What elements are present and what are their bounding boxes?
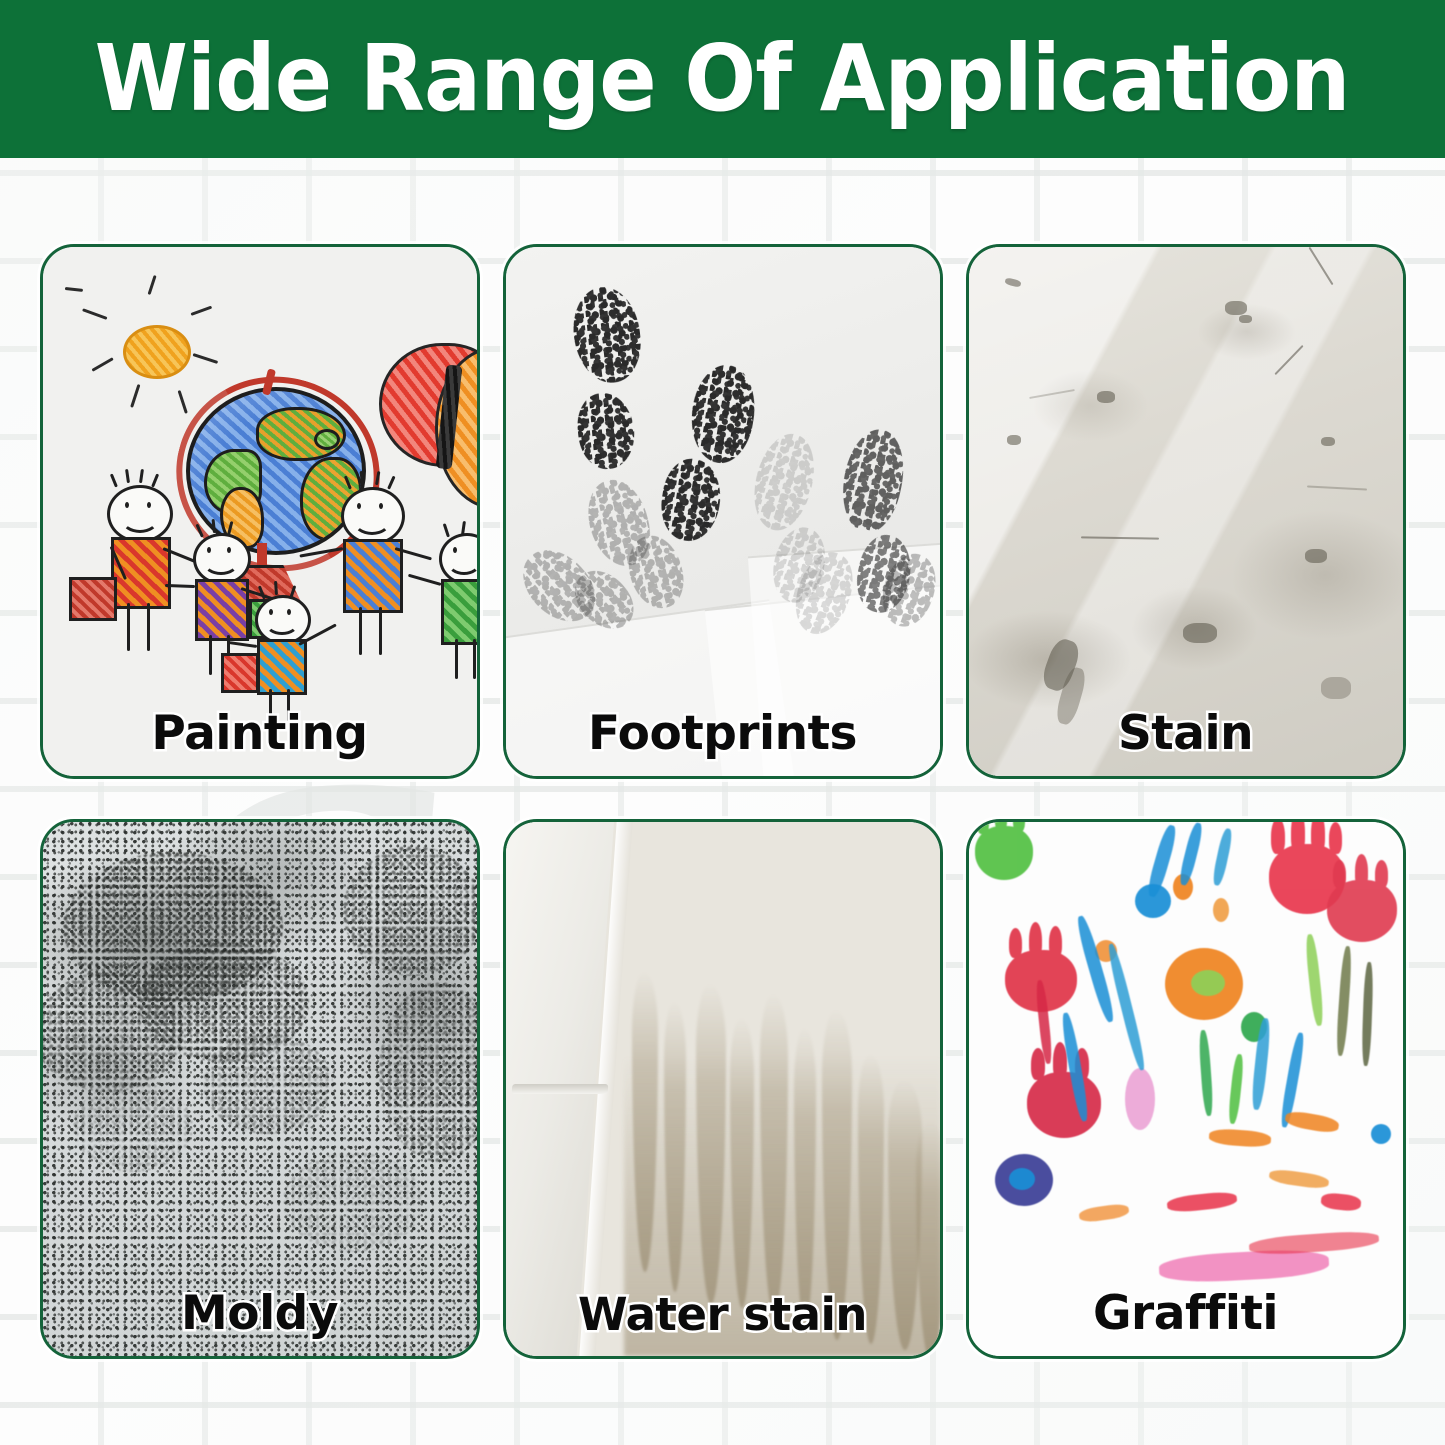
footprint-sole bbox=[569, 284, 645, 386]
stain-photo bbox=[969, 247, 1403, 776]
paint-streak-blue bbox=[1211, 827, 1234, 886]
scuff-scratch bbox=[1306, 485, 1366, 490]
handprint-crimson bbox=[1027, 1072, 1101, 1138]
figure-smile bbox=[353, 507, 391, 535]
card-stain[interactable]: Stain bbox=[966, 244, 1406, 779]
sun-ray bbox=[192, 353, 218, 364]
card-label-painting: Painting bbox=[43, 709, 477, 758]
handprint-green bbox=[975, 826, 1033, 880]
mold-patch bbox=[73, 1082, 193, 1172]
card-label-graffiti: Graffiti bbox=[969, 1289, 1403, 1338]
header-banner: Wide Range Of Application bbox=[0, 0, 1445, 158]
figure-hair bbox=[109, 473, 117, 487]
paint-blot-orange bbox=[1213, 898, 1229, 922]
paint-streak-orange bbox=[1208, 1128, 1271, 1148]
figure-smile bbox=[121, 505, 159, 533]
figure-hair bbox=[274, 581, 278, 595]
paint-blot-blue bbox=[1371, 1124, 1391, 1144]
figure-shirt bbox=[343, 539, 403, 613]
handprint-red bbox=[1327, 880, 1397, 942]
paint-streak-blue bbox=[1074, 914, 1117, 1023]
paint-streak-orange bbox=[1078, 1203, 1129, 1224]
figure-leg bbox=[209, 635, 212, 675]
mold-patch bbox=[343, 846, 480, 976]
figure-leg bbox=[127, 603, 130, 651]
mold-patch bbox=[379, 982, 480, 1162]
scuff-scratch bbox=[1308, 247, 1333, 285]
card-label-stain: Stain bbox=[969, 709, 1403, 758]
footprint-sole bbox=[684, 361, 761, 467]
paint-streak-green bbox=[1198, 1030, 1214, 1116]
paint-streak-red bbox=[1320, 1192, 1361, 1212]
figure-smile bbox=[265, 611, 299, 635]
figure-hair bbox=[125, 469, 130, 483]
scuff-scratch bbox=[1080, 536, 1158, 539]
card-footprints[interactable]: Footprints bbox=[503, 244, 943, 779]
figure-leg bbox=[455, 639, 458, 679]
sun-ray bbox=[82, 308, 107, 320]
figure-smile bbox=[203, 549, 239, 575]
scuff-scratch bbox=[1274, 345, 1303, 375]
sun-ray bbox=[91, 357, 113, 372]
footprint-heel bbox=[655, 455, 725, 545]
moldy-photo bbox=[43, 822, 477, 1356]
paint-streak-blue bbox=[1177, 821, 1204, 886]
footprints-photo bbox=[506, 247, 940, 776]
infographic-page: S Wide Range Of Application bbox=[0, 0, 1445, 1445]
figure-arm bbox=[407, 574, 441, 586]
footprint-sole-faint bbox=[743, 427, 824, 537]
figure-hair bbox=[442, 523, 449, 537]
shopping-bag-red bbox=[69, 577, 117, 621]
card-painting[interactable]: Painting bbox=[40, 244, 480, 779]
mold-patch bbox=[283, 1152, 423, 1252]
dirt-smudge bbox=[1183, 623, 1217, 643]
card-graffiti[interactable]: Graffiti bbox=[966, 819, 1406, 1359]
dirt-smudge bbox=[1321, 677, 1351, 699]
paint-streak-orange bbox=[1284, 1109, 1340, 1134]
mold-patch bbox=[40, 972, 183, 1092]
paint-streak-pink bbox=[1158, 1248, 1329, 1285]
figure-leg bbox=[359, 607, 362, 655]
scuff-scratch bbox=[1029, 389, 1075, 399]
dirt-speck bbox=[1007, 435, 1021, 445]
figure-arm bbox=[229, 641, 257, 648]
appliance-handle-line bbox=[511, 1084, 608, 1094]
paint-streak-olive bbox=[1335, 946, 1353, 1056]
dirt-speck bbox=[1305, 549, 1327, 563]
figure-hair bbox=[387, 476, 395, 490]
figure-smile bbox=[447, 549, 480, 575]
application-card-grid: Painting bbox=[0, 158, 1445, 1445]
figure-hair bbox=[151, 473, 159, 487]
figure-shirt bbox=[257, 639, 307, 695]
water-stain-photo bbox=[506, 822, 940, 1356]
card-label-water-stain: Water stain bbox=[506, 1291, 940, 1338]
paint-streak-olive bbox=[1361, 962, 1374, 1066]
dirt-speck bbox=[1239, 315, 1252, 323]
paint-streak-green bbox=[1304, 934, 1325, 1027]
footprint-heel bbox=[574, 391, 636, 472]
dirt-speck bbox=[1225, 301, 1247, 315]
card-water-stain[interactable]: Water stain bbox=[503, 819, 943, 1359]
sun-ray bbox=[147, 275, 156, 295]
graffiti-photo bbox=[969, 822, 1403, 1356]
mold-patch bbox=[203, 1034, 333, 1134]
sun-icon bbox=[123, 325, 191, 379]
figure-shirt bbox=[441, 579, 480, 645]
paint-streak-orange bbox=[1268, 1168, 1329, 1190]
card-moldy[interactable]: Moldy bbox=[40, 819, 480, 1359]
figure-leg bbox=[473, 639, 476, 679]
footprint-sole bbox=[833, 424, 911, 538]
card-label-footprints: Footprints bbox=[506, 709, 940, 758]
figure-leg bbox=[379, 607, 382, 655]
dirt-speck bbox=[1097, 391, 1115, 403]
dirt-speck bbox=[1321, 437, 1335, 446]
figure-hair bbox=[139, 469, 144, 483]
paint-blot-green bbox=[1191, 970, 1225, 996]
sun-ray bbox=[64, 287, 82, 292]
dirt-speck bbox=[1004, 277, 1021, 288]
figure-shirt bbox=[111, 537, 171, 609]
paint-streak-red bbox=[1166, 1190, 1237, 1213]
paint-blot-pink bbox=[1125, 1068, 1155, 1130]
sun-ray bbox=[130, 384, 140, 408]
sun-ray bbox=[190, 306, 212, 316]
paint-blot-blue bbox=[1009, 1168, 1035, 1190]
figure-eye bbox=[357, 503, 361, 509]
sun-ray bbox=[177, 390, 187, 414]
shopping-bag-red-small bbox=[221, 653, 259, 693]
figure-leg bbox=[147, 603, 150, 651]
page-title: Wide Range Of Application bbox=[95, 33, 1350, 125]
card-label-moldy: Moldy bbox=[43, 1289, 477, 1338]
painting-photo bbox=[43, 247, 477, 776]
paint-streak-green bbox=[1227, 1054, 1244, 1125]
